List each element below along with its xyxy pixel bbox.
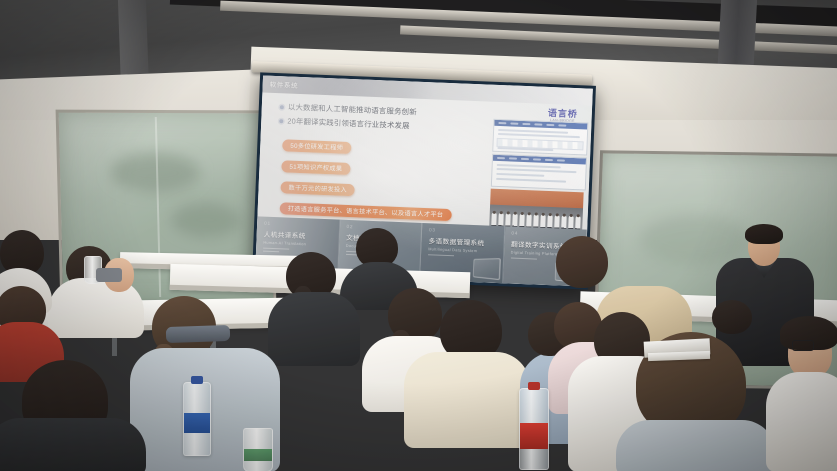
eyeglasses-icon [792, 340, 814, 351]
bullet-dot-icon [279, 119, 283, 123]
list-item: 20年翻译实践引领语言行业技术发展 [279, 116, 469, 133]
product-number: 04 [511, 231, 518, 236]
bag-on-desk [166, 325, 231, 343]
bullet-text: 20年翻译实践引领语言行业技术发展 [287, 116, 410, 130]
classroom-photo: 软件系统 语言桥 LAN-BRIDGE 以大数据和人工智能推动语言服务创新 20… [0, 0, 837, 471]
bullet-text: 以大数据和人工智能推动语言服务创新 [288, 102, 417, 116]
cola-bottle [519, 388, 549, 470]
slide-screenshot-group [489, 119, 587, 239]
slide-bullet-list: 以大数据和人工智能推动语言服务创新 20年翻译实践引领语言行业技术发展 [279, 102, 470, 138]
product-subtitle: Multilingual Data System [428, 247, 503, 254]
highlight-pill: 数千万元的研发投入 [280, 181, 355, 196]
highlight-pill: 51项知识产权成果 [281, 160, 350, 175]
highlight-pill: 50多位研发工程师 [282, 139, 351, 154]
website-screenshot-2 [491, 154, 587, 191]
bullet-dot-icon [280, 105, 284, 109]
product-title: 多语数据管理系统 [428, 235, 503, 248]
product-number: 02 [347, 224, 354, 229]
product-subtitle: Human-AI Translation [263, 241, 338, 248]
device-illustration-icon [472, 258, 500, 280]
water-bottle [183, 382, 211, 456]
paper-cup [243, 428, 273, 471]
slide-header-title: 软件系统 [270, 79, 299, 90]
product-number: 03 [429, 227, 436, 232]
presenter-hair [745, 224, 783, 244]
slide-highlight-pills: 50多位研发工程师 51项知识产权成果 数千万元的研发投入 打造语言服务平台、语… [279, 134, 454, 225]
product-title: 人机共译系统 [264, 229, 339, 242]
product-number: 01 [264, 221, 271, 226]
website-screenshot-1 [492, 119, 588, 156]
object-on-desk [96, 268, 122, 282]
list-item: 以大数据和人工智能推动语言服务创新 [280, 102, 470, 119]
